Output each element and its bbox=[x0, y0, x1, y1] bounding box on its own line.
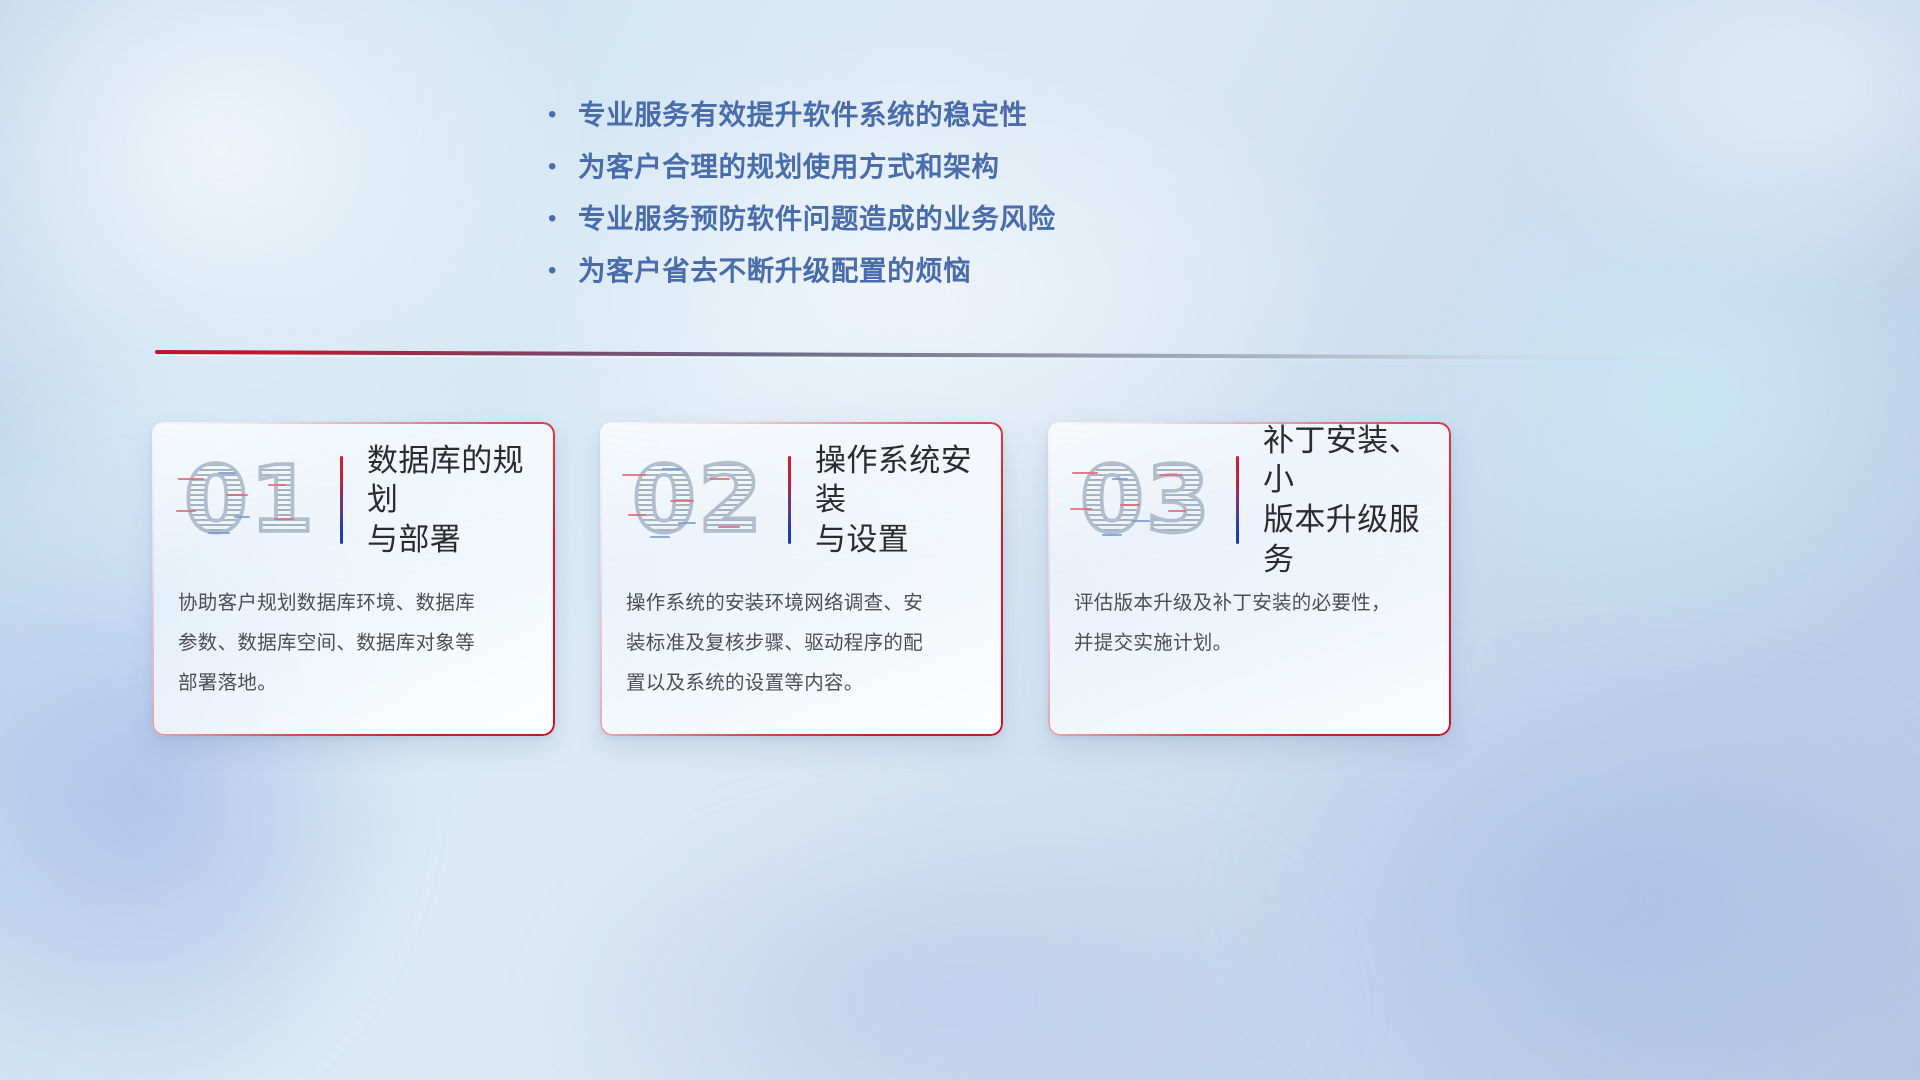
list-item: • 专业服务有效提升软件系统的稳定性 bbox=[548, 92, 1448, 144]
card-title: 数据库的规划 与部署 bbox=[367, 441, 555, 560]
card-title: 操作系统安装 与设置 bbox=[815, 441, 1003, 560]
card-number-text: 03 bbox=[1080, 454, 1212, 546]
section-divider bbox=[155, 345, 1710, 361]
bullet-dot-icon: • bbox=[548, 207, 578, 231]
bullet-text: 专业服务预防软件问题造成的业务风险 bbox=[578, 196, 1056, 236]
card-number-text: 02 bbox=[632, 454, 764, 546]
service-card-01[interactable]: 01 数据库的规划 与部署 协助客户规划数据库环境、数据库 参数、数据 bbox=[152, 422, 555, 736]
service-card-row: 01 数据库的规划 与部署 协助客户规划数据库环境、数据库 参数、数据 bbox=[152, 422, 1768, 740]
card-description: 协助客户规划数据库环境、数据库 参数、数据库空间、数据库对象等 部署落地。 bbox=[178, 584, 530, 703]
card-number-text: 01 bbox=[184, 454, 316, 546]
card-number-striped: 03 bbox=[1070, 448, 1222, 552]
list-item: • 为客户省去不断升级配置的烦恼 bbox=[548, 248, 1448, 300]
card-accent-rule bbox=[340, 456, 343, 544]
list-item: • 专业服务预防软件问题造成的业务风险 bbox=[548, 196, 1448, 248]
card-accent-rule bbox=[1236, 456, 1239, 544]
list-item: • 为客户合理的规划使用方式和架构 bbox=[548, 144, 1448, 196]
bullet-dot-icon: • bbox=[548, 103, 578, 127]
slide-canvas: • 专业服务有效提升软件系统的稳定性 • 为客户合理的规划使用方式和架构 • 专… bbox=[0, 0, 1920, 1080]
background-glow-bottom-center bbox=[540, 790, 1360, 1080]
card-header: 03 补丁安装、小 版本升级服务 bbox=[1048, 444, 1451, 556]
service-card-02[interactable]: 02 操作系统安装 与设置 操作系统的安装环境网络调查、安 装标准及复 bbox=[600, 422, 1003, 736]
bullet-text: 专业服务有效提升软件系统的稳定性 bbox=[578, 92, 1028, 132]
bullet-text: 为客户省去不断升级配置的烦恼 bbox=[578, 248, 971, 288]
card-description: 评估版本升级及补丁安装的必要性， 并提交实施计划。 bbox=[1074, 584, 1426, 664]
bullet-dot-icon: • bbox=[548, 259, 578, 283]
card-number-striped: 02 bbox=[622, 448, 774, 552]
bullet-dot-icon: • bbox=[548, 155, 578, 179]
card-title: 补丁安装、小 版本升级服务 bbox=[1263, 422, 1451, 579]
card-header: 02 操作系统安装 与设置 bbox=[600, 444, 1003, 556]
card-header: 01 数据库的规划 与部署 bbox=[152, 444, 555, 556]
card-description: 操作系统的安装环境网络调查、安 装标准及复核步骤、驱动程序的配 置以及系统的设置… bbox=[626, 584, 978, 703]
card-accent-rule bbox=[788, 456, 791, 544]
card-number-striped: 01 bbox=[174, 448, 326, 552]
bullet-text: 为客户合理的规划使用方式和架构 bbox=[578, 144, 1000, 184]
service-card-03[interactable]: 03 补丁安装、小 版本升级服务 评估版本升级及补丁安装的必要性， 并 bbox=[1048, 422, 1451, 736]
background-glow-top-right bbox=[1500, 0, 1920, 300]
benefits-bullet-list: • 专业服务有效提升软件系统的稳定性 • 为客户合理的规划使用方式和架构 • 专… bbox=[548, 92, 1448, 300]
